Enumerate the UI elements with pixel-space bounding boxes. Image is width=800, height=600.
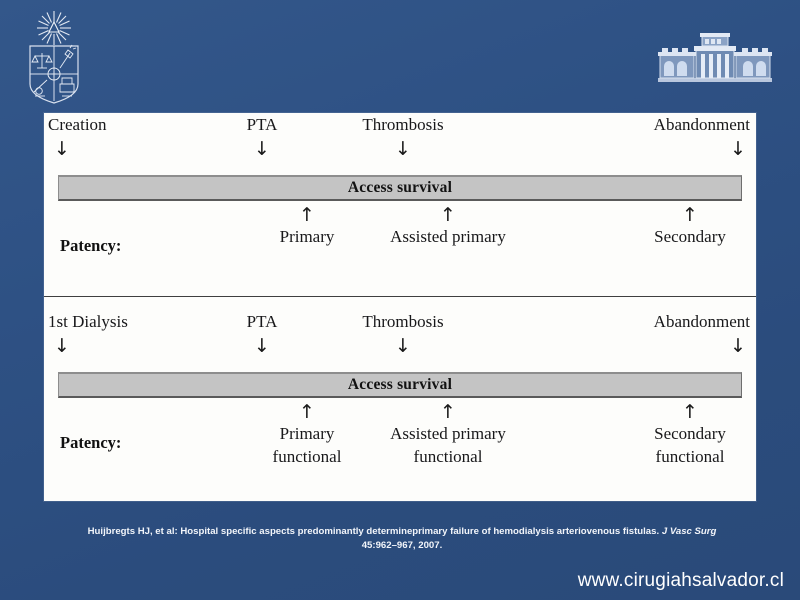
patency-sub-label: functional [630, 445, 750, 469]
event-label: Thrombosis [333, 310, 473, 334]
functional-access-survival-panel: 1st Dialysis ↓ PTA ↓ Thrombosis ↓ Abando… [44, 296, 756, 501]
event-label: Creation [48, 113, 198, 137]
access-survival-panel: Creation ↓ PTA ↓ Thrombosis ↓ Abandonmen… [44, 113, 756, 296]
patency-type-label: Assisted primary [332, 225, 564, 248]
hospital-del-salvador-building-icon [650, 30, 780, 88]
up-arrow-icon: ↑ [332, 205, 564, 225]
down-arrow-icon: ↓ [48, 139, 198, 159]
citation-journal: J Vasc Surg [662, 526, 717, 537]
event-abandonment: Abandonment ↓ [604, 113, 750, 159]
universidad-de-chile-coat-of-arms-icon [18, 6, 90, 106]
patency-type-label: Secondary [630, 422, 750, 445]
website-url: www.cirugiahsalvador.cl [578, 570, 784, 592]
patency-assisted-primary: ↑ Assisted primary [332, 205, 564, 248]
event-label: Thrombosis [333, 113, 473, 137]
access-survival-bar: Access survival [58, 175, 742, 201]
patency-sub-label: functional [332, 445, 564, 469]
down-arrow-icon: ↓ [48, 336, 208, 356]
patency-type-label: Secondary [630, 225, 750, 248]
event-thrombosis: Thrombosis ↓ [333, 113, 473, 159]
event-label: PTA [212, 113, 312, 137]
patency-label: Patency: [60, 236, 121, 256]
event-label: PTA [212, 310, 312, 334]
event-abandonment: Abandonment ↓ [604, 310, 750, 356]
patency-secondary-functional: ↑ Secondary functional [630, 402, 750, 469]
event-thrombosis: Thrombosis ↓ [333, 310, 473, 356]
citation-detail: 45:962–967, 2007. [362, 540, 443, 551]
event-pta: PTA ↓ [212, 310, 312, 356]
patency-type-label: Assisted primary [332, 422, 564, 445]
slide: Creation ↓ PTA ↓ Thrombosis ↓ Abandonmen… [0, 0, 800, 600]
access-survival-bar: Access survival [58, 372, 742, 398]
event-label: Abandonment [604, 310, 750, 334]
event-creation: Creation ↓ [48, 113, 198, 159]
access-survival-bar-label: Access survival [348, 376, 452, 394]
patency-row-top: Patency: ↑ Primary ↑ Assisted primary ↑ … [44, 205, 756, 265]
event-row-top: Creation ↓ PTA ↓ Thrombosis ↓ Abandonmen… [44, 113, 756, 175]
citation-main: Huijbregts HJ, et al: Hospital specific … [88, 526, 662, 537]
patency-secondary: ↑ Secondary [630, 205, 750, 248]
down-arrow-icon: ↓ [212, 336, 312, 356]
patency-row-bottom: Patency: ↑ Primary functional ↑ Assisted… [44, 402, 756, 488]
up-arrow-icon: ↑ [630, 205, 750, 225]
down-arrow-icon: ↓ [333, 139, 473, 159]
access-survival-bar-label: Access survival [348, 179, 452, 197]
down-arrow-icon: ↓ [604, 336, 750, 356]
event-pta: PTA ↓ [212, 113, 312, 159]
citation: Huijbregts HJ, et al: Hospital specific … [52, 525, 752, 553]
up-arrow-icon: ↑ [332, 402, 564, 422]
down-arrow-icon: ↓ [333, 336, 473, 356]
patency-assisted-primary-functional: ↑ Assisted primary functional [332, 402, 564, 469]
event-row-bottom: 1st Dialysis ↓ PTA ↓ Thrombosis ↓ Abando… [44, 310, 756, 372]
event-label: 1st Dialysis [48, 310, 208, 334]
patency-label: Patency: [60, 433, 121, 453]
event-first-dialysis: 1st Dialysis ↓ [48, 310, 208, 356]
down-arrow-icon: ↓ [604, 139, 750, 159]
event-label: Abandonment [604, 113, 750, 137]
down-arrow-icon: ↓ [212, 139, 312, 159]
up-arrow-icon: ↑ [630, 402, 750, 422]
figure-panel: Creation ↓ PTA ↓ Thrombosis ↓ Abandonmen… [44, 113, 756, 501]
